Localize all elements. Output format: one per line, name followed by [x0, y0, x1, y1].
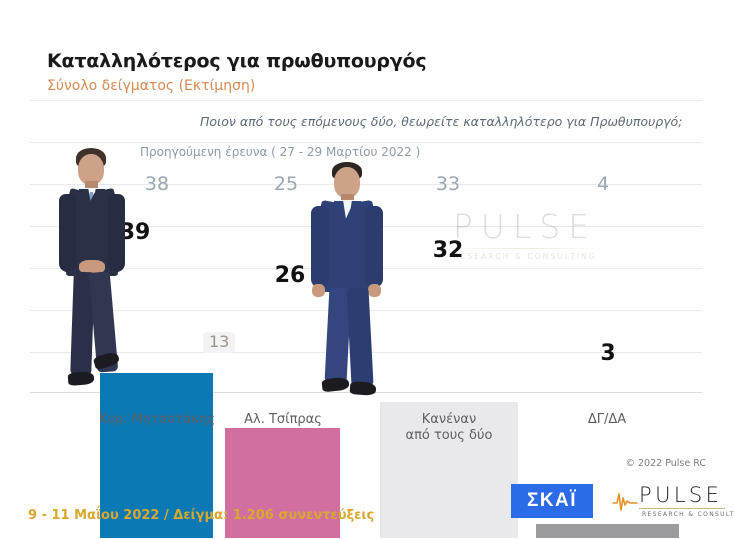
previous-value-dk-na: 4	[573, 173, 633, 195]
page-subtitle: Σύνολο δείγματος (Εκτίμηση)	[47, 78, 255, 94]
skai-logo-text: ΣΚΑΪ	[527, 490, 577, 512]
category-line: Αλ. Τσίπρας	[212, 412, 354, 428]
bar-dk-na[interactable]	[536, 524, 679, 538]
category-line: από τους δύο	[378, 428, 520, 444]
figure-shoe-left	[68, 371, 95, 386]
category-label-tsipras: Αλ. Τσίπρας	[212, 412, 354, 428]
copyright-text: © 2022 Pulse RC	[625, 458, 706, 469]
category-label-dk-na: ΔΓ/ΔΑ	[536, 412, 678, 428]
survey-question: Ποιον από τους επόμενους δύο, θεωρείτε κ…	[200, 114, 682, 129]
bar-value-dk-na: 3	[583, 341, 633, 366]
bar-value-neither: 32	[423, 238, 473, 263]
figure-arm-left	[59, 194, 76, 272]
pulse-wave-icon	[612, 487, 638, 513]
photo-tsipras	[300, 162, 398, 394]
figure-hand-left	[312, 284, 325, 297]
pulse-logo-wordmark: PULSE	[639, 485, 722, 506]
pulse-logo-tagline: RESEARCH & CONSULTING	[642, 511, 734, 518]
figure-hand-right	[368, 284, 381, 297]
poll-slide: Καταλληλότερος για πρωθυπουργός Σύνολο δ…	[0, 0, 734, 539]
page-title: Καταλληλότερος για πρωθυπουργός	[47, 50, 426, 72]
figure-arm-right	[108, 194, 125, 272]
figure-shoe-right	[350, 381, 377, 396]
gridline	[30, 142, 702, 143]
previous-survey-label: Προηγούμενη έρευνα ( 27 - 29 Μαρτίου 202…	[140, 145, 420, 159]
figure-arm-right	[365, 206, 383, 288]
category-line: ΔΓ/ΔΑ	[536, 412, 678, 428]
pulse-logo-rule	[639, 508, 725, 509]
figure-leg-right	[346, 287, 373, 386]
category-label-neither: Κανέναν από τους δύο	[378, 412, 520, 445]
skai-logo[interactable]: ΣΚΑΪ	[511, 484, 593, 518]
previous-value-neither: 33	[418, 173, 478, 195]
photo-mitsotakis	[46, 148, 140, 393]
figure-arm-left	[311, 206, 329, 288]
figure-shoe-left	[321, 377, 349, 393]
lead-difference-chip: 13	[203, 332, 235, 353]
category-line: Κανέναν	[378, 412, 520, 428]
gridline	[30, 100, 702, 101]
pulse-logo[interactable]: PULSE RESEARCH & CONSULTING	[612, 484, 728, 520]
fieldwork-note: 9 - 11 Μαΐου 2022 / Δείγμα: 1.206 συνεντ…	[28, 508, 374, 523]
